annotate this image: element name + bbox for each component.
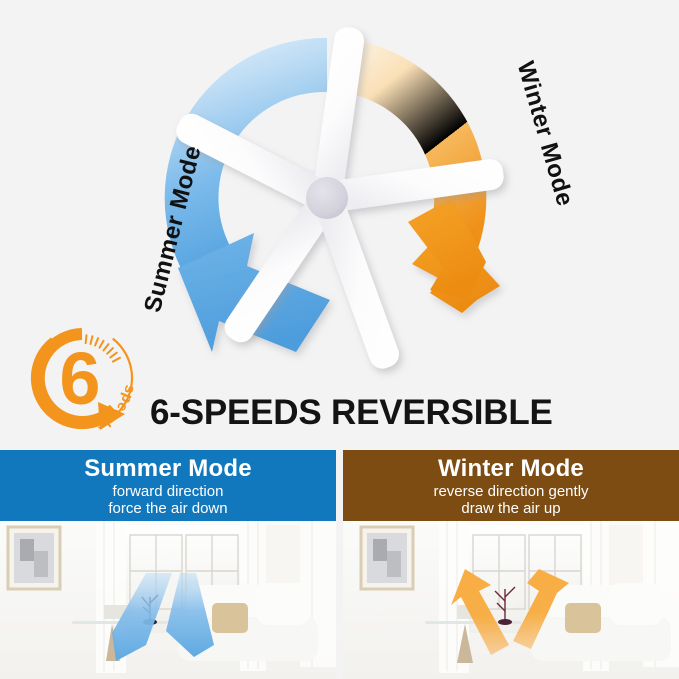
summer-mode-panel: Summer Mode forward direction force the … — [0, 450, 336, 679]
summer-mode-line1: forward direction — [0, 483, 336, 500]
winter-mode-line1: reverse direction gently — [343, 483, 679, 500]
winter-mode-heading: Winter Mode — [343, 454, 679, 483]
summer-room-svg — [0, 521, 336, 679]
summer-mode-line2: force the air down — [0, 500, 336, 517]
badge-svg: 6 speeds — [22, 318, 142, 438]
winter-mode-line2: draw the air up — [343, 500, 679, 517]
page-title: 6-SPEEDS REVERSIBLE — [150, 391, 650, 435]
mode-panels: Summer Mode forward direction force the … — [0, 450, 679, 679]
summer-mode-heading: Summer Mode — [0, 454, 336, 483]
winter-room-photo — [343, 521, 679, 679]
summer-room-photo — [0, 521, 336, 679]
winter-mode-banner: Winter Mode reverse direction gently dra… — [343, 450, 679, 521]
six-speeds-badge: 6 speeds — [22, 318, 142, 438]
winter-room-svg — [343, 521, 679, 679]
badge-number: 6 — [59, 337, 100, 420]
winter-mode-panel: Winter Mode reverse direction gently dra… — [343, 450, 679, 679]
summer-mode-banner: Summer Mode forward direction force the … — [0, 450, 336, 521]
fan-hub — [306, 177, 348, 219]
infographic-root: Summer Mode Winter Mode — [0, 0, 679, 679]
